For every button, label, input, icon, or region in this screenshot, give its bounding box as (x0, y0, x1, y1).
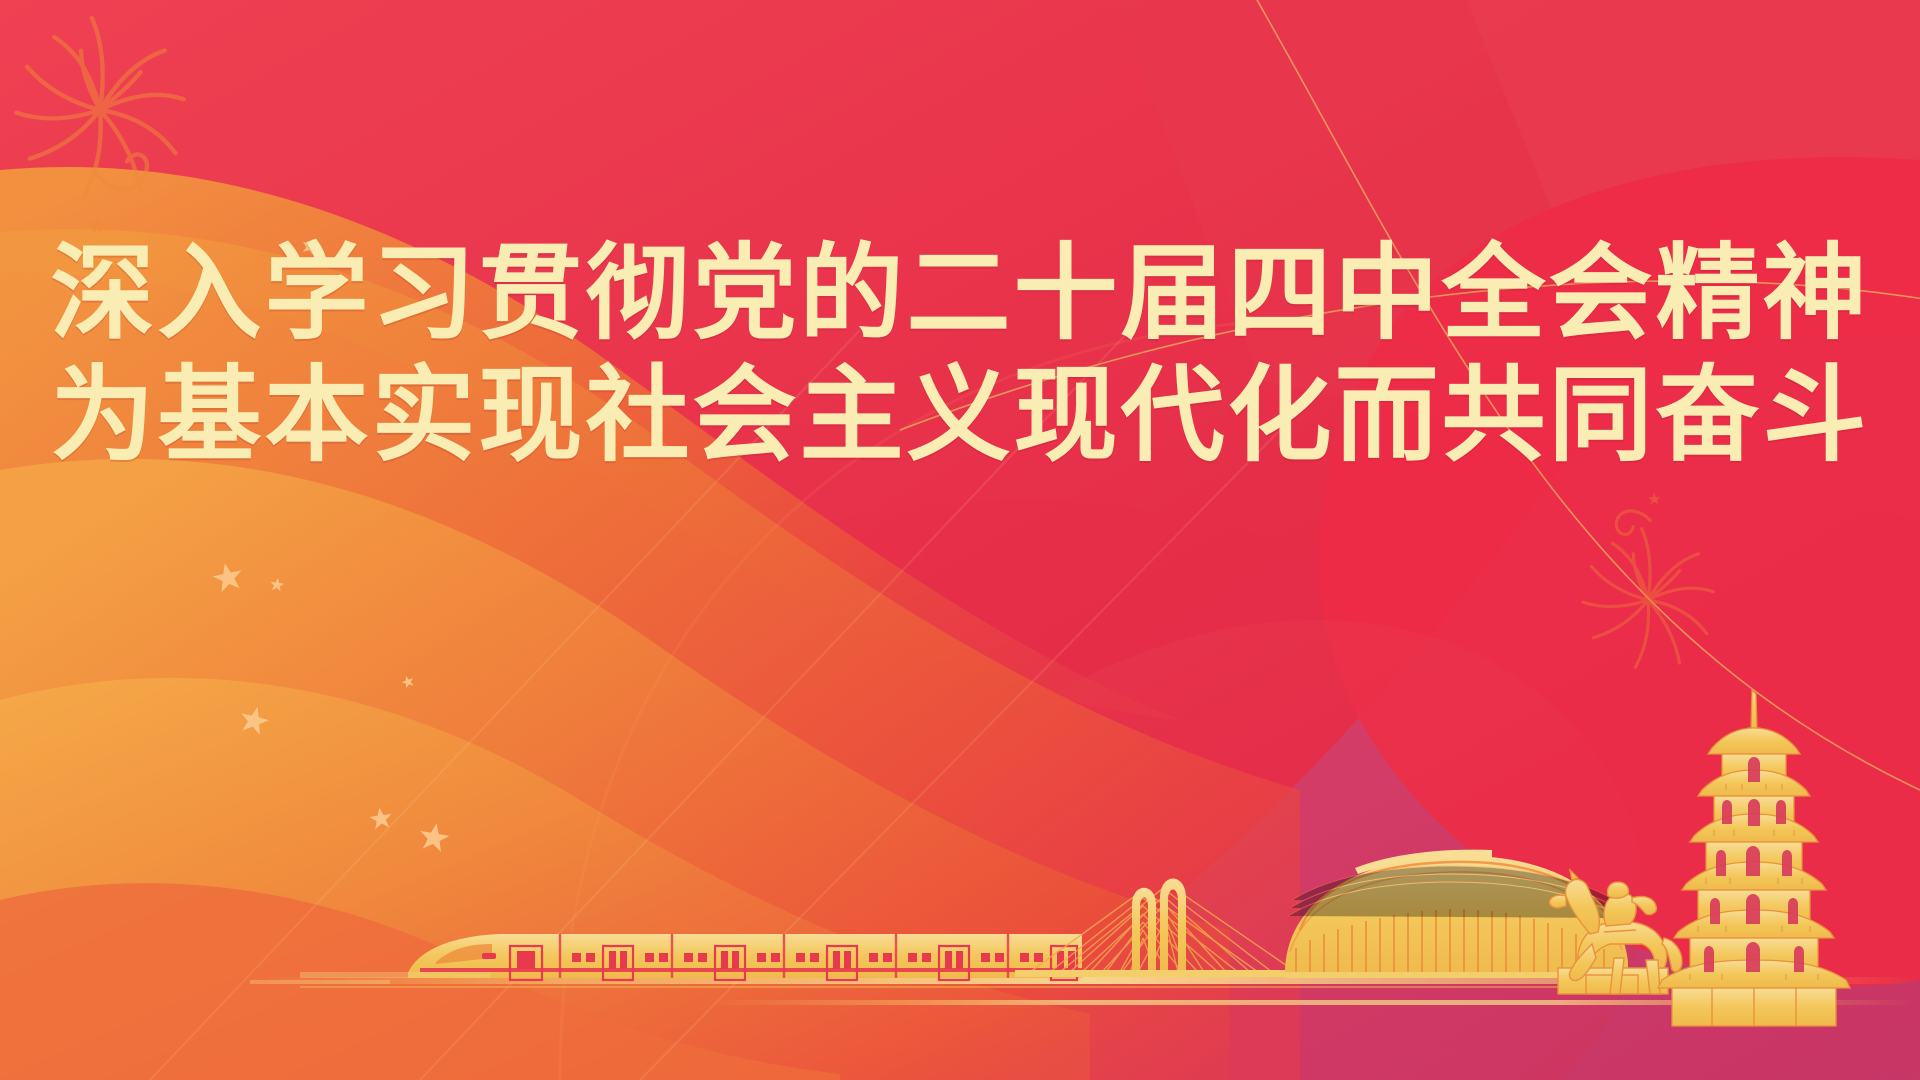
skyline-layer (0, 0, 1920, 1080)
high-speed-train-illustration (250, 934, 1082, 984)
cable-stayed-bridge-illustration (1015, 879, 1325, 978)
pagoda-tower-illustration (1658, 690, 1850, 1026)
poster-canvas: 深入学习贯彻党的二十届四中全会精神 为基本实现社会主义现代化而共同奋斗 (0, 0, 1920, 1080)
